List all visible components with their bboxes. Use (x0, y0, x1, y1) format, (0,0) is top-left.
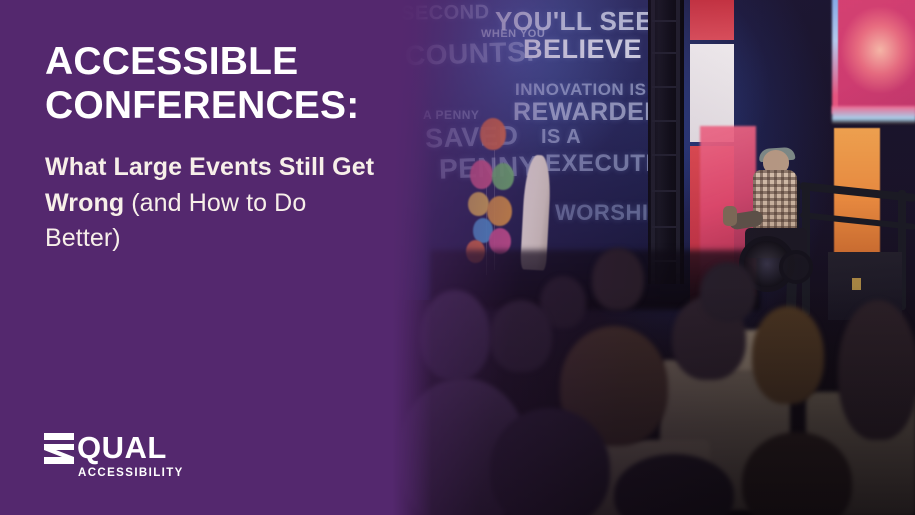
backdrop-text-l: EXECUTION IS (545, 150, 660, 178)
speaker-badge (852, 278, 861, 290)
audience-head (700, 262, 756, 322)
audience-head (752, 306, 824, 404)
page-title: AccessibleConferences: (45, 40, 415, 128)
logo-wordmark: QUAL ACCESSIBILITY (77, 432, 184, 479)
title-line-2: Conferences: (45, 84, 359, 127)
backdrop-text-m: WORSHIPPED (555, 200, 660, 226)
page-subtitle: What Large Events Still Get Wrong (and H… (45, 150, 385, 257)
wheelchair-caster (779, 250, 813, 284)
stage-screen-base (832, 106, 915, 124)
audience-head (592, 248, 644, 310)
balloon (470, 160, 493, 189)
balloon (480, 118, 506, 150)
balloon (487, 196, 512, 226)
backdrop-text-j: IS A (541, 126, 581, 149)
logo-word-qual: QUAL (77, 432, 184, 463)
blog-feature-banner: SECOND YOU'LL SEE WHEN YOU BELIEVE IT. C… (0, 0, 915, 515)
person-foot (723, 206, 737, 226)
logo-word-accessibility: ACCESSIBILITY (78, 467, 184, 479)
audience-head (838, 300, 915, 440)
stage-screen-face (838, 0, 915, 116)
balloon (468, 192, 489, 216)
equal-accessibility-logo[interactable]: QUAL ACCESSIBILITY (44, 432, 184, 479)
backdrop-text-f: INNOVATION IS (515, 80, 647, 100)
backdrop-text-g: REWARDED (513, 98, 660, 127)
equal-e-mark-icon (44, 432, 74, 465)
person-torso (753, 170, 797, 236)
audience-head (490, 300, 552, 372)
headline-block: AccessibleConferences: What Large Events… (45, 40, 415, 257)
balloon (492, 163, 514, 190)
lighting-truss (648, 0, 684, 284)
stage-light-panel-red-top (690, 0, 734, 40)
title-line-1: Accessible (45, 40, 298, 83)
backdrop-text-d: BELIEVE IT. (523, 34, 660, 65)
